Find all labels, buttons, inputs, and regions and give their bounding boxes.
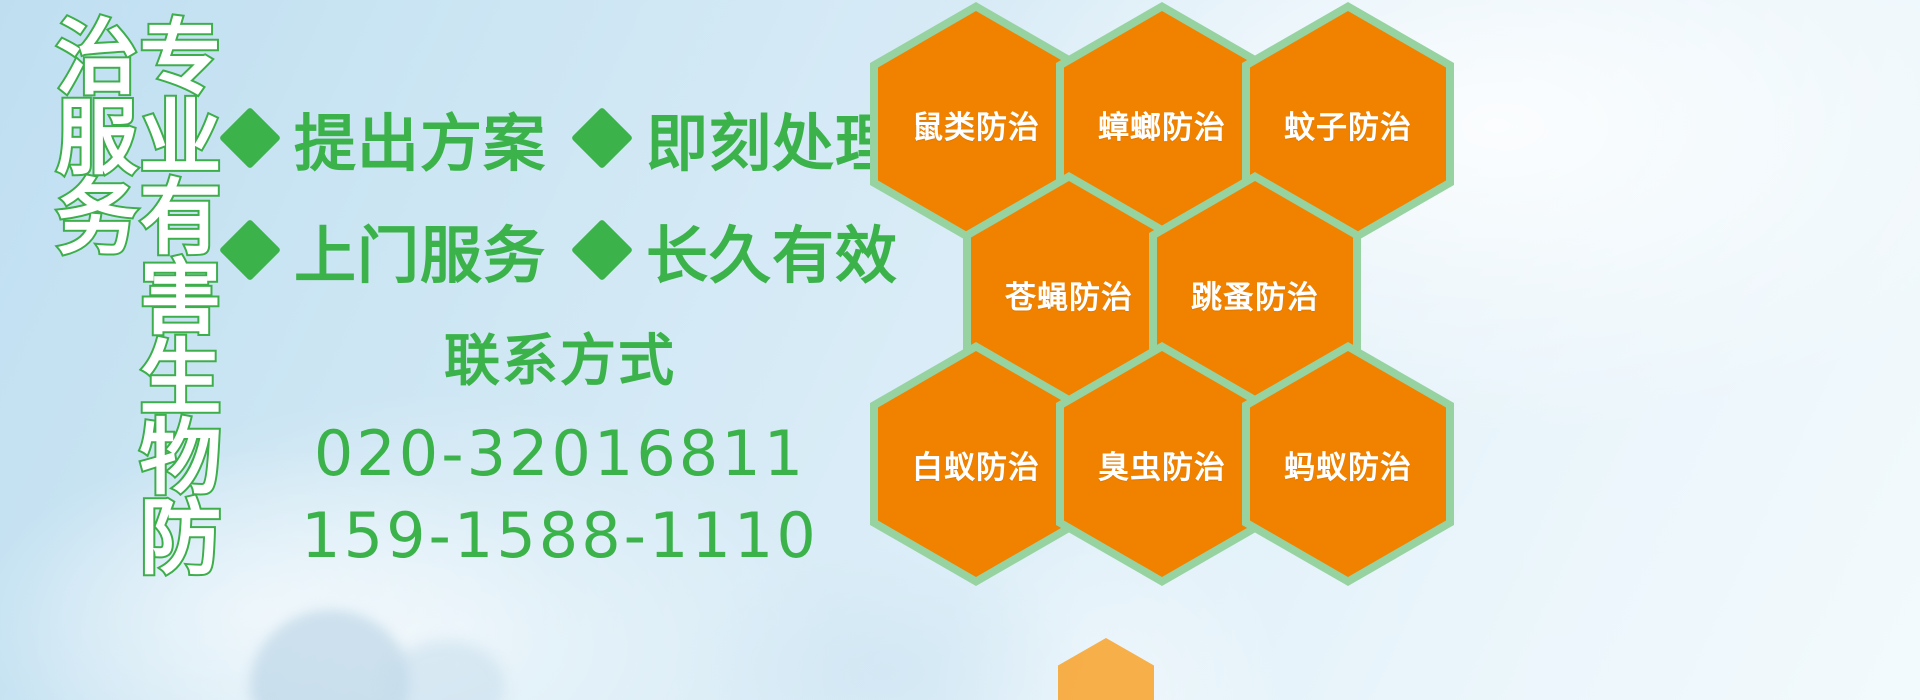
feature-label-3: 上门服务 (294, 205, 546, 295)
feature-bullets: 提出方案 即刻处理 上门服务 长久有效 (228, 82, 868, 306)
feature-label-2: 即刻处理 (646, 93, 898, 183)
service-honeycomb: 鼠类防治 蟑螂防治 蚊子防治 苍蝇防治 跳蚤防治 白蚁防治 臭虫防治 蚂 (862, 0, 1462, 700)
feature-bullet-row-2: 上门服务 长久有效 (228, 194, 868, 306)
service-label: 白蚁防治 (912, 442, 1040, 487)
diamond-icon (219, 107, 281, 169)
contact-block: 联系方式 020-32016811 159-1588-1110 (300, 316, 820, 577)
diamond-icon (571, 107, 633, 169)
service-label: 蚊子防治 (1284, 102, 1412, 147)
diamond-icon (571, 219, 633, 281)
background-blob-left-2 (385, 640, 505, 700)
contact-phone-mobile[interactable]: 159-1588-1110 (300, 495, 820, 577)
service-label: 臭虫防治 (1098, 442, 1226, 487)
feature-label-1: 提出方案 (294, 93, 546, 183)
service-label: 苍蝇防治 (1005, 272, 1133, 317)
service-label: 蟑螂防治 (1098, 102, 1226, 147)
service-label: 跳蚤防治 (1191, 272, 1319, 317)
contact-title: 联系方式 (300, 316, 820, 397)
contact-phone-landline[interactable]: 020-32016811 (300, 413, 820, 495)
vertical-headline: 专业有害生物防治服务 (110, 14, 214, 574)
service-label: 蚂蚁防治 (1284, 442, 1412, 487)
service-label: 鼠类防治 (912, 102, 1040, 147)
feature-label-4: 长久有效 (646, 205, 898, 295)
promo-banner: 专业有害生物防治服务 提出方案 即刻处理 上门服务 长久有效 联系方式 020-… (0, 0, 1920, 700)
feature-bullet-row-1: 提出方案 即刻处理 (228, 82, 868, 194)
diamond-icon (219, 219, 281, 281)
